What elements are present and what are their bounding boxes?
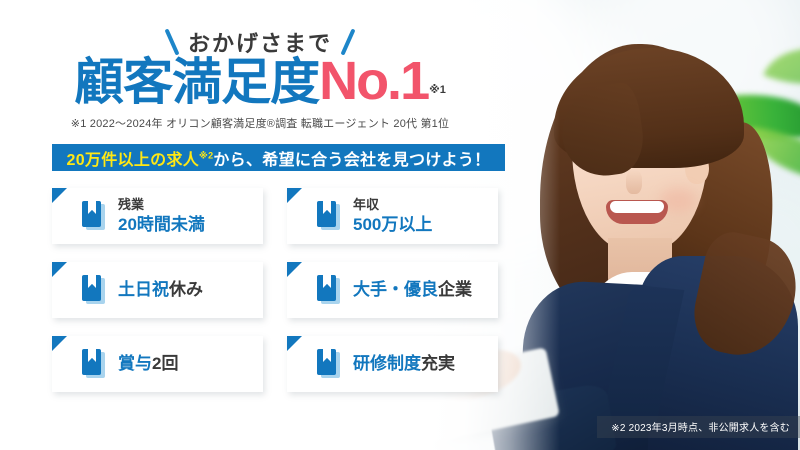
folded-corner-icon	[287, 188, 302, 203]
book-bookmark-icon	[82, 349, 106, 379]
book-bookmark-icon	[317, 201, 341, 231]
feature-card-bonus[interactable]: 賞与2回	[52, 336, 263, 392]
feature-card-overtime[interactable]: 残業 20時間未満	[52, 188, 263, 244]
hero-banner-ad: ※2 2023年3月時点、非公開求人を含む おかげさまで 顧客満足度No.1※1…	[0, 0, 800, 450]
folded-corner-icon	[287, 262, 302, 277]
book-bookmark-icon	[317, 349, 341, 379]
banner-footnote-marker: ※2	[199, 150, 213, 160]
mouth	[606, 200, 668, 224]
feature-card-label: 大手・優良企業	[353, 279, 472, 301]
slash-left-icon	[164, 28, 179, 55]
book-bookmark-icon	[82, 201, 106, 231]
photo-footnote: ※2 2023年3月時点、非公開求人を含む	[597, 416, 800, 438]
folded-corner-icon	[52, 188, 67, 203]
teeth	[610, 201, 664, 213]
folded-corner-icon	[287, 336, 302, 351]
banner-rest-text: から、希望に合う会社を見つけよう！	[213, 146, 490, 170]
book-bookmark-icon	[82, 275, 106, 305]
banner-highlight-text: 20万件以上の求人	[67, 152, 200, 169]
feature-card-weekend-holidays[interactable]: 土日祝休み	[52, 262, 263, 318]
feature-card-label: 研修制度充実	[353, 353, 455, 375]
feature-card-dark-text: 充実	[421, 354, 455, 373]
nose	[626, 170, 642, 194]
feature-card-dark-text: 2回	[152, 354, 178, 373]
feature-card-dark-text: 休み	[169, 280, 203, 299]
feature-card-blue-text: 大手・優良	[353, 280, 438, 299]
headline-footnote-marker: ※1	[429, 84, 446, 96]
folded-corner-icon	[52, 336, 67, 351]
feature-card-line1: 残業	[118, 197, 205, 213]
feature-card-line2: 20時間未満	[118, 214, 205, 235]
feature-card-dark-text: 企業	[438, 280, 472, 299]
feature-card-line1: 年収	[353, 197, 432, 213]
banner-highlight: 20万件以上の求人※2	[67, 146, 214, 170]
book-bookmark-icon	[317, 275, 341, 305]
feature-card-training[interactable]: 研修制度充実	[287, 336, 498, 392]
feature-card-label: 年収 500万以上	[353, 197, 432, 235]
feature-card-blue-text: 研修制度	[353, 354, 421, 373]
page-title: 顧客満足度No.1※1	[0, 54, 520, 108]
feature-card-label: 土日祝休み	[118, 279, 203, 301]
feature-card-label: 賞与2回	[118, 353, 178, 375]
folded-corner-icon	[52, 262, 67, 277]
content-column: おかげさまで 顧客満足度No.1※1 ※1 2022〜2024年 オリコン顧客満…	[0, 0, 520, 450]
hero-footnote: ※1 2022〜2024年 オリコン顧客満足度®調査 転職エージェント 20代 …	[0, 115, 520, 131]
feature-card-blue-text: 土日祝	[118, 280, 169, 299]
feature-card-line2: 500万以上	[353, 214, 432, 235]
headline-no1: No.1	[319, 51, 428, 111]
feature-card-major-companies[interactable]: 大手・優良企業	[287, 262, 498, 318]
job-count-banner: 20万件以上の求人※2から、希望に合う会社を見つけよう！	[52, 144, 505, 171]
headline-japanese: 顧客満足度	[74, 54, 319, 110]
feature-card-label: 残業 20時間未満	[118, 197, 205, 235]
feature-card-salary[interactable]: 年収 500万以上	[287, 188, 498, 244]
feature-card-grid: 残業 20時間未満 年収 500万以上	[52, 188, 498, 392]
feature-card-blue-text: 賞与	[118, 354, 152, 373]
